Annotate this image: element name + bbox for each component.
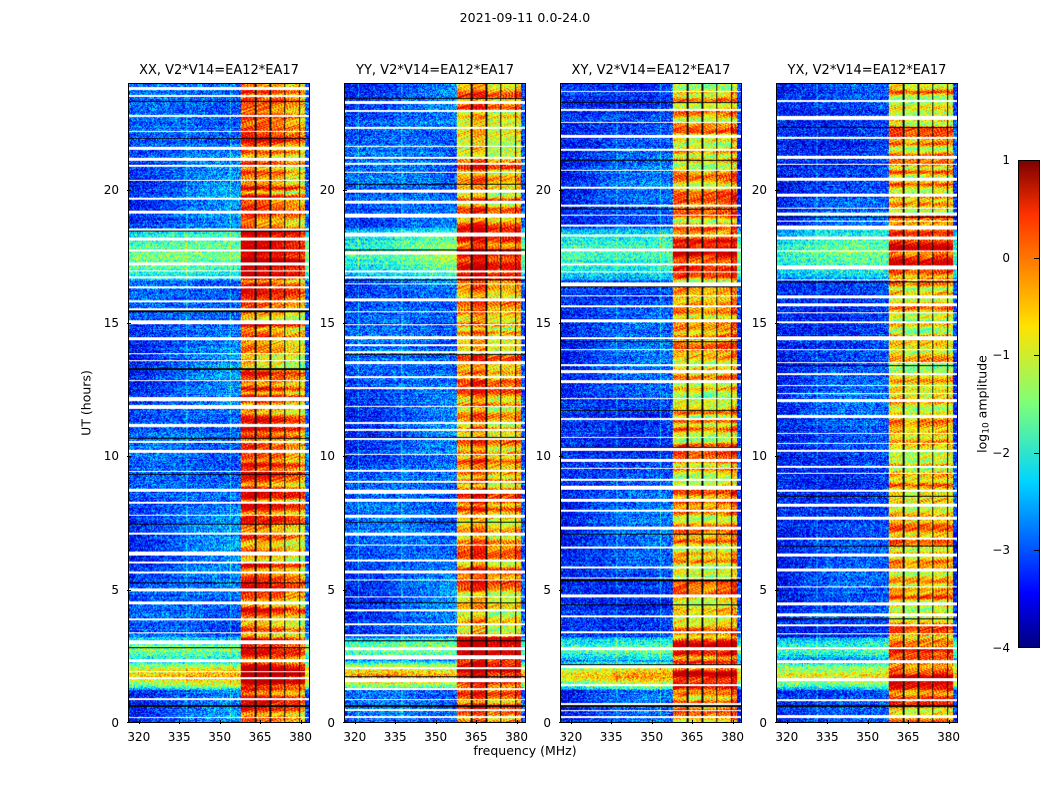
colorbar [1018, 160, 1040, 648]
colorbar-label-sub: 10 [982, 422, 992, 433]
panel-yx: YX, V2*V14=EA12*EA1732033535036538005101… [776, 83, 958, 723]
y-tick-label: 15 [320, 316, 335, 330]
colorbar-tick-label: −3 [992, 543, 1010, 557]
x-tick-label: 320 [559, 730, 582, 744]
waterfall-image-xy [561, 84, 741, 722]
panel-title-xx: XX, V2*V14=EA12*EA17 [139, 63, 299, 78]
x-tick-label: 335 [384, 730, 407, 744]
x-tick [827, 720, 828, 724]
colorbar-tick-label: −2 [992, 446, 1010, 460]
y-tick-label: 5 [111, 583, 119, 597]
y-tick-label: 0 [759, 716, 767, 730]
y-tick-label: 20 [104, 183, 119, 197]
y-tick-label: 10 [536, 449, 551, 463]
y-tick [343, 722, 347, 723]
x-tick-label: 350 [640, 730, 663, 744]
y-tick [343, 590, 347, 591]
waterfall-axes-yx[interactable] [776, 83, 958, 723]
y-tick [559, 323, 563, 324]
y-tick-label: 5 [759, 583, 767, 597]
y-tick [775, 590, 779, 591]
y-tick [127, 722, 131, 723]
y-tick [343, 323, 347, 324]
y-tick-label: 15 [104, 316, 119, 330]
x-tick-label: 380 [289, 730, 312, 744]
y-tick-label: 15 [752, 316, 767, 330]
x-tick-label: 350 [208, 730, 231, 744]
panel-title-yx: YX, V2*V14=EA12*EA17 [788, 63, 947, 78]
waterfall-axes-xx[interactable] [128, 83, 310, 723]
colorbar-tick-label: −1 [992, 348, 1010, 362]
y-axis-label: UT (hours) [79, 370, 94, 436]
x-tick-label: 350 [424, 730, 447, 744]
colorbar-tick [1034, 258, 1039, 259]
x-tick-label: 320 [343, 730, 366, 744]
x-tick-label: 320 [775, 730, 798, 744]
x-tick [436, 720, 437, 724]
panel-title-yy: YY, V2*V14=EA12*EA17 [356, 63, 514, 78]
colorbar-gradient [1019, 161, 1039, 647]
y-tick [343, 190, 347, 191]
x-axis-label: frequency (MHz) [0, 743, 1050, 758]
y-tick [127, 190, 131, 191]
y-tick-label: 0 [543, 716, 551, 730]
y-tick [775, 722, 779, 723]
y-tick [559, 190, 563, 191]
y-tick-label: 20 [536, 183, 551, 197]
waterfall-axes-yy[interactable] [344, 83, 526, 723]
x-tick [868, 720, 869, 724]
y-tick-label: 0 [327, 716, 335, 730]
y-tick [127, 323, 131, 324]
x-tick-label: 380 [505, 730, 528, 744]
waterfall-image-yx [777, 84, 957, 722]
y-tick-label: 10 [752, 449, 767, 463]
colorbar-label-post: amplitude [975, 355, 990, 422]
x-tick [395, 720, 396, 724]
y-tick [559, 590, 563, 591]
x-tick [692, 720, 693, 724]
x-tick [476, 720, 477, 724]
x-tick-label: 335 [168, 730, 191, 744]
x-tick [301, 720, 302, 724]
colorbar-tick-label: 0 [1002, 251, 1010, 265]
y-tick [343, 456, 347, 457]
y-tick [775, 323, 779, 324]
x-tick [733, 720, 734, 724]
x-tick [220, 720, 221, 724]
x-tick-label: 335 [816, 730, 839, 744]
colorbar-tick [1034, 355, 1039, 356]
y-tick-label: 20 [752, 183, 767, 197]
x-tick-label: 380 [937, 730, 960, 744]
colorbar-tick-label: −4 [992, 641, 1010, 655]
x-tick-label: 335 [600, 730, 623, 744]
colorbar-label-pre: log [975, 434, 990, 453]
figure-suptitle: 2021-09-11 0.0-24.0 [0, 10, 1050, 25]
waterfall-image-xx [129, 84, 309, 722]
waterfall-image-yy [345, 84, 525, 722]
x-tick [652, 720, 653, 724]
x-tick-label: 365 [681, 730, 704, 744]
x-tick [908, 720, 909, 724]
colorbar-tick [1034, 453, 1039, 454]
y-tick [775, 190, 779, 191]
x-tick [571, 720, 572, 724]
x-tick-label: 365 [897, 730, 920, 744]
y-tick-label: 5 [327, 583, 335, 597]
panel-yy: YY, V2*V14=EA12*EA1732033535036538005101… [344, 83, 526, 723]
x-tick-label: 365 [465, 730, 488, 744]
colorbar-tick [1034, 550, 1039, 551]
x-tick [355, 720, 356, 724]
x-tick-label: 320 [127, 730, 150, 744]
colorbar-label: log10 amplitude [975, 355, 992, 453]
colorbar-tick [1034, 647, 1039, 648]
y-tick [775, 456, 779, 457]
panel-xy: XY, V2*V14=EA12*EA1732033535036538005101… [560, 83, 742, 723]
x-tick-label: 350 [856, 730, 879, 744]
y-tick [559, 456, 563, 457]
y-tick-label: 10 [320, 449, 335, 463]
y-tick [127, 590, 131, 591]
panel-title-xy: XY, V2*V14=EA12*EA17 [572, 63, 731, 78]
y-tick-label: 10 [104, 449, 119, 463]
x-tick [179, 720, 180, 724]
colorbar-tick-label: 1 [1002, 153, 1010, 167]
y-tick-label: 0 [111, 716, 119, 730]
y-tick [127, 456, 131, 457]
x-tick [260, 720, 261, 724]
x-tick [139, 720, 140, 724]
y-tick-label: 5 [543, 583, 551, 597]
x-tick [949, 720, 950, 724]
x-tick [787, 720, 788, 724]
x-tick [611, 720, 612, 724]
waterfall-axes-xy[interactable] [560, 83, 742, 723]
x-tick-label: 365 [249, 730, 272, 744]
colorbar-tick [1034, 160, 1039, 161]
y-tick-label: 15 [536, 316, 551, 330]
x-tick [517, 720, 518, 724]
panel-xx: XX, V2*V14=EA12*EA1732033535036538005101… [128, 83, 310, 723]
y-tick [559, 722, 563, 723]
y-tick-label: 20 [320, 183, 335, 197]
x-tick-label: 380 [721, 730, 744, 744]
